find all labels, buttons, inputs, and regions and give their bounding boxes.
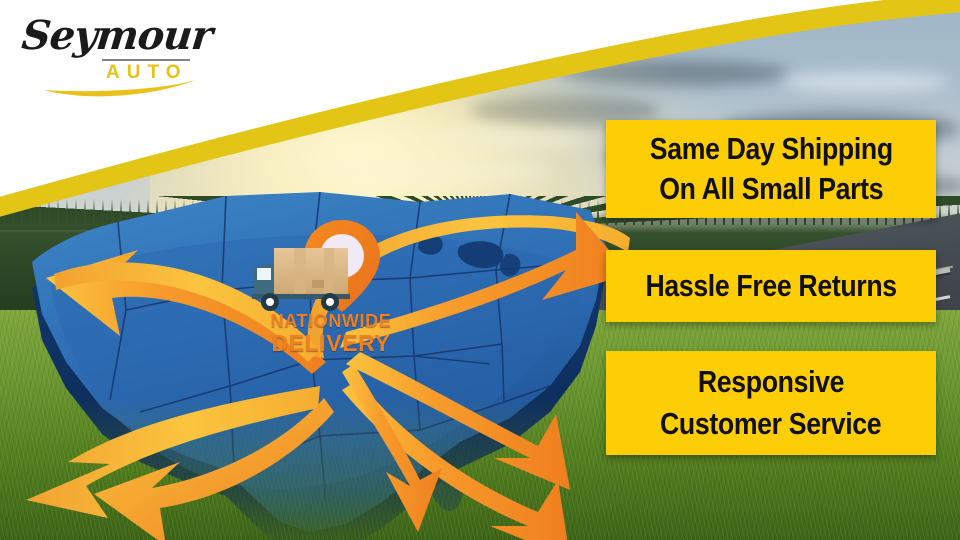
cloud: [560, 60, 790, 86]
cloud: [430, 128, 590, 150]
brand-logo[interactable]: Seymour AUTO: [14, 10, 224, 102]
banner-line: Same Day Shipping: [649, 129, 892, 169]
banner-line: Responsive: [698, 361, 844, 403]
promo-banner-slide: Seymour AUTO: [0, 0, 960, 540]
banner-line: Customer Service: [660, 403, 881, 445]
delivery-badge: [246, 212, 416, 372]
banner-hassle-free-returns[interactable]: Hassle Free Returns: [606, 250, 936, 322]
banner-line: On All Small Parts: [659, 169, 883, 209]
logo-wordmark: Seymour: [20, 12, 215, 59]
delivery-truck-icon: [252, 248, 350, 311]
logo-subtext: AUTO: [106, 62, 187, 84]
banner-same-day-shipping[interactable]: Same Day Shipping On All Small Parts: [606, 120, 936, 218]
banner-responsive-customer-service[interactable]: Responsive Customer Service: [606, 351, 936, 455]
banner-line: Hassle Free Returns: [645, 268, 896, 304]
cloud: [780, 72, 950, 92]
